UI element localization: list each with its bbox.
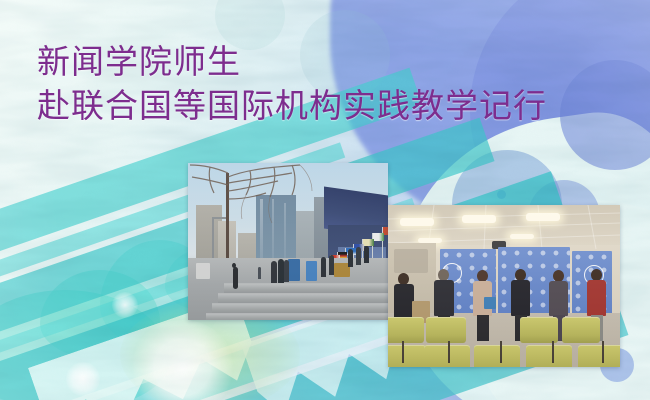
photo-tone-overlay (188, 163, 388, 320)
news-banner: 新闻学院师生 赴联合国等国际机构实践教学记行 (0, 0, 650, 400)
glow-spot (112, 292, 138, 318)
banner-title-line-1: 新闻学院师生 (37, 40, 597, 84)
banner-title-line-2: 赴联合国等国际机构实践教学记行 (37, 84, 597, 128)
photo-un-plaza[interactable] (188, 163, 388, 320)
glow-spot (66, 362, 100, 396)
photo-tone-overlay (388, 205, 620, 367)
banner-title: 新闻学院师生 赴联合国等国际机构实践教学记行 (37, 40, 597, 128)
photo-group[interactable] (388, 205, 620, 367)
